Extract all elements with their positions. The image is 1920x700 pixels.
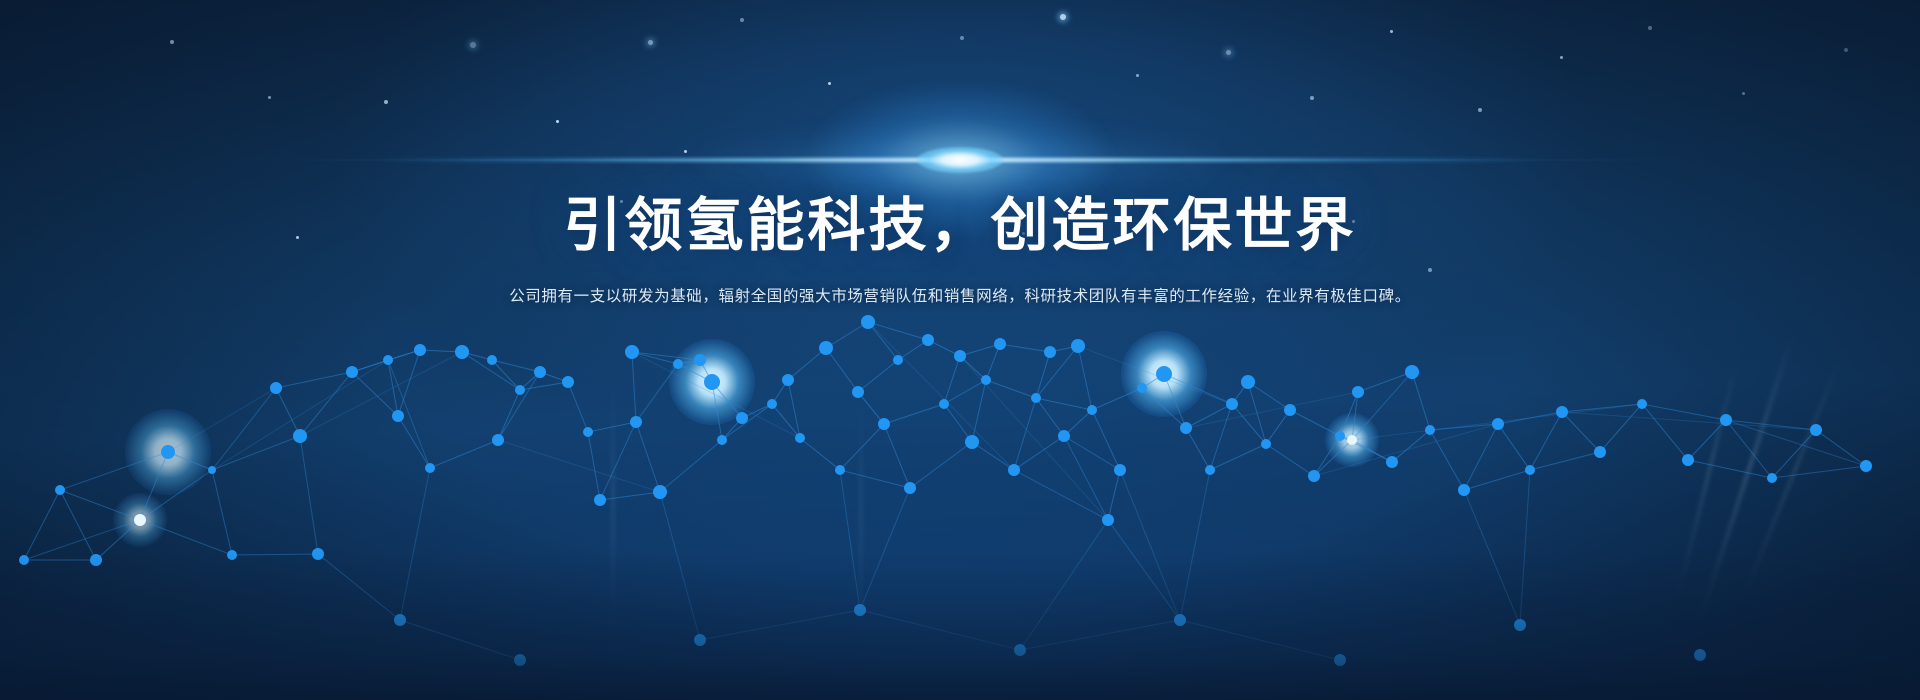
network-edge [232, 554, 318, 555]
network-edge [1000, 344, 1050, 352]
network-edge [1210, 444, 1266, 470]
network-node [625, 345, 639, 359]
network-edge [826, 348, 858, 392]
network-node [425, 463, 435, 473]
network-edge [1530, 452, 1600, 470]
network-edge [636, 422, 660, 492]
network-edge [400, 620, 520, 660]
network-edge [1464, 424, 1498, 490]
network-node [1114, 464, 1126, 476]
network-node [1347, 435, 1357, 445]
network-node [852, 386, 864, 398]
network-node [1058, 430, 1070, 442]
network-node [1637, 399, 1647, 409]
network-edge [972, 380, 986, 442]
network-edge [140, 520, 232, 555]
network-node [1137, 383, 1147, 393]
network-node [1386, 456, 1398, 468]
network-edge [1014, 398, 1036, 470]
network-edge [400, 468, 430, 620]
network-node [1031, 393, 1041, 403]
network-edge [1142, 388, 1186, 428]
network-node [1156, 366, 1172, 382]
network-edge [1014, 470, 1108, 520]
network-edge [1078, 346, 1232, 404]
network-edge [660, 492, 700, 640]
network-edge [1520, 470, 1530, 625]
network-edge [722, 404, 772, 440]
hero-subtitle: 公司拥有一支以研发为基础，辐射全国的强大市场营销队伍和销售网络，科研技术团队有丰… [0, 285, 1920, 308]
network-node [736, 412, 748, 424]
network-node [1682, 454, 1694, 466]
network-edge [858, 360, 898, 392]
network-edge [498, 390, 520, 440]
network-edge [430, 440, 498, 468]
network-node [1352, 386, 1364, 398]
network-edge [1020, 620, 1180, 650]
network-node [161, 445, 175, 459]
network-edge [1688, 420, 1726, 460]
network-edge [1358, 372, 1412, 392]
network-edge [860, 488, 910, 610]
network-node [19, 555, 29, 565]
network-node [965, 435, 979, 449]
network-edge [1020, 520, 1108, 650]
network-edge [1266, 444, 1314, 476]
network-edge [800, 438, 840, 470]
network-edge [1816, 430, 1866, 466]
network-edge [1642, 404, 1688, 460]
network-node [694, 354, 706, 366]
network-node [594, 494, 606, 506]
network-edge [1036, 398, 1092, 410]
network-edge [1772, 466, 1866, 478]
network-node [954, 350, 966, 362]
network-node [1556, 406, 1568, 418]
network-node [1174, 614, 1186, 626]
network-node [782, 374, 794, 386]
network-edge [1120, 470, 1180, 620]
network-edge [1642, 404, 1726, 420]
network-edge [1290, 410, 1340, 436]
network-node [293, 429, 307, 443]
network-edge [1014, 436, 1064, 470]
network-edge [1430, 430, 1464, 490]
network-node [878, 418, 890, 430]
network-node [819, 341, 833, 355]
network-node [514, 654, 526, 666]
network-edge [1078, 346, 1092, 410]
network-node [1180, 422, 1192, 434]
network-edge [826, 322, 868, 348]
network-edge [1498, 424, 1530, 470]
network-edge [600, 492, 660, 500]
network-node [1594, 446, 1606, 458]
network-edge [60, 490, 140, 520]
network-node [704, 374, 720, 390]
network-node [795, 433, 805, 443]
network-edge [910, 442, 972, 488]
network-edge [1600, 404, 1642, 452]
network-node [515, 385, 525, 395]
network-edge [588, 432, 600, 500]
network-node [583, 427, 593, 437]
network-edge [986, 380, 1036, 398]
network-edge [600, 422, 636, 500]
network-node [1308, 470, 1320, 482]
network-graphic [0, 0, 1920, 700]
network-node [562, 376, 574, 388]
network-edge [1036, 398, 1064, 436]
network-edge [660, 440, 722, 492]
network-edge [772, 404, 800, 438]
network-edge [1108, 520, 1180, 620]
network-node [383, 355, 393, 365]
network-edge [868, 322, 1014, 470]
network-node [1205, 465, 1215, 475]
network-node [134, 514, 146, 526]
network-node [1525, 465, 1535, 475]
network-edge [632, 352, 636, 422]
network-edge [960, 344, 1000, 356]
network-node [90, 554, 102, 566]
network-edge [972, 442, 1014, 470]
network-node [630, 416, 642, 428]
network-edge [840, 424, 884, 470]
network-node [939, 399, 949, 409]
network-edge [398, 416, 430, 468]
network-node [1226, 398, 1238, 410]
network-node [1810, 424, 1822, 436]
network-edge [498, 372, 540, 440]
network-node [1008, 464, 1020, 476]
network-edge [1530, 412, 1562, 470]
network-node [392, 410, 404, 422]
network-edge [1248, 382, 1290, 410]
network-edge [1036, 352, 1050, 398]
network-edge [568, 382, 588, 432]
network-edge [300, 436, 318, 554]
network-node [492, 434, 504, 446]
network-edge [1232, 404, 1266, 444]
network-node [673, 359, 683, 369]
network-node [1014, 644, 1026, 656]
network-edge [60, 452, 168, 490]
network-node [1425, 425, 1435, 435]
network-edge [1180, 620, 1340, 660]
network-edge [632, 352, 800, 438]
network-node [694, 634, 706, 646]
network-node [1492, 418, 1504, 430]
network-node [1458, 484, 1470, 496]
network-edge [498, 440, 660, 492]
network-node [1241, 375, 1255, 389]
network-edge [60, 490, 96, 560]
network-node [1044, 346, 1056, 358]
network-node [653, 485, 667, 499]
network-node [904, 482, 916, 494]
network-node [534, 366, 546, 378]
network-node [1102, 514, 1114, 526]
network-node [227, 550, 237, 560]
network-node [414, 344, 426, 356]
network-edge [1036, 346, 1078, 398]
network-edge [632, 352, 700, 360]
network-edge [1352, 372, 1412, 440]
network-node [1087, 405, 1097, 415]
network-edge [840, 470, 910, 488]
network-node [1514, 619, 1526, 631]
network-edge [276, 388, 300, 436]
network-node [208, 466, 216, 474]
hero-text-block: 引领氢能科技，创造环保世界 公司拥有一支以研发为基础，辐射全国的强大市场营销队伍… [0, 196, 1920, 308]
network-edge [1108, 470, 1120, 520]
network-edge [700, 610, 860, 640]
network-edge [1726, 420, 1866, 466]
network-node [270, 382, 282, 394]
network-edge [788, 348, 826, 380]
network-node [835, 465, 845, 475]
network-edge [840, 470, 860, 610]
network-edge [212, 470, 232, 555]
network-edge [168, 388, 276, 452]
network-node [861, 315, 875, 329]
network-edge [1562, 412, 1816, 430]
network-edge [884, 404, 944, 424]
network-node [1334, 654, 1346, 666]
network-edge [1180, 470, 1210, 620]
network-edge [884, 424, 910, 488]
network-edge [1464, 470, 1530, 490]
hero-banner: 引领氢能科技，创造环保世界 公司拥有一支以研发为基础，辐射全国的强大市场营销队伍… [0, 0, 1920, 700]
network-node [767, 399, 777, 409]
network-edge [788, 380, 800, 438]
network-node [1261, 439, 1271, 449]
network-node [55, 485, 65, 495]
network-edge [1562, 412, 1600, 452]
network-node [455, 345, 469, 359]
network-node [981, 375, 991, 385]
network-edge [632, 352, 678, 364]
network-node [487, 355, 497, 365]
network-edge [492, 360, 540, 372]
network-edge [1464, 490, 1520, 625]
network-edge [212, 360, 388, 470]
page-title: 引领氢能科技，创造环保世界 [0, 196, 1920, 257]
network-node [1405, 365, 1419, 379]
network-edge [712, 382, 722, 440]
network-node [312, 548, 324, 560]
network-edge [168, 452, 212, 470]
network-edge [1266, 410, 1290, 444]
network-node [1284, 404, 1296, 416]
network-edge [1092, 388, 1142, 410]
network-node [994, 338, 1006, 350]
network-edge [860, 610, 1020, 650]
network-node [1071, 339, 1085, 353]
network-node [1767, 473, 1777, 483]
network-edge [96, 520, 140, 560]
network-node [394, 614, 406, 626]
network-edge [858, 392, 884, 424]
network-node [346, 366, 358, 378]
network-node [1860, 460, 1872, 472]
network-edge [868, 322, 898, 360]
network-edge [1412, 372, 1430, 430]
network-edge [588, 422, 636, 432]
network-node [854, 604, 866, 616]
network-node [922, 334, 934, 346]
network-node [717, 435, 727, 445]
network-node [1720, 414, 1732, 426]
network-node [1694, 649, 1706, 661]
network-node [1335, 431, 1345, 441]
network-edge [1186, 428, 1210, 470]
network-edge [318, 554, 400, 620]
network-node [893, 355, 903, 365]
